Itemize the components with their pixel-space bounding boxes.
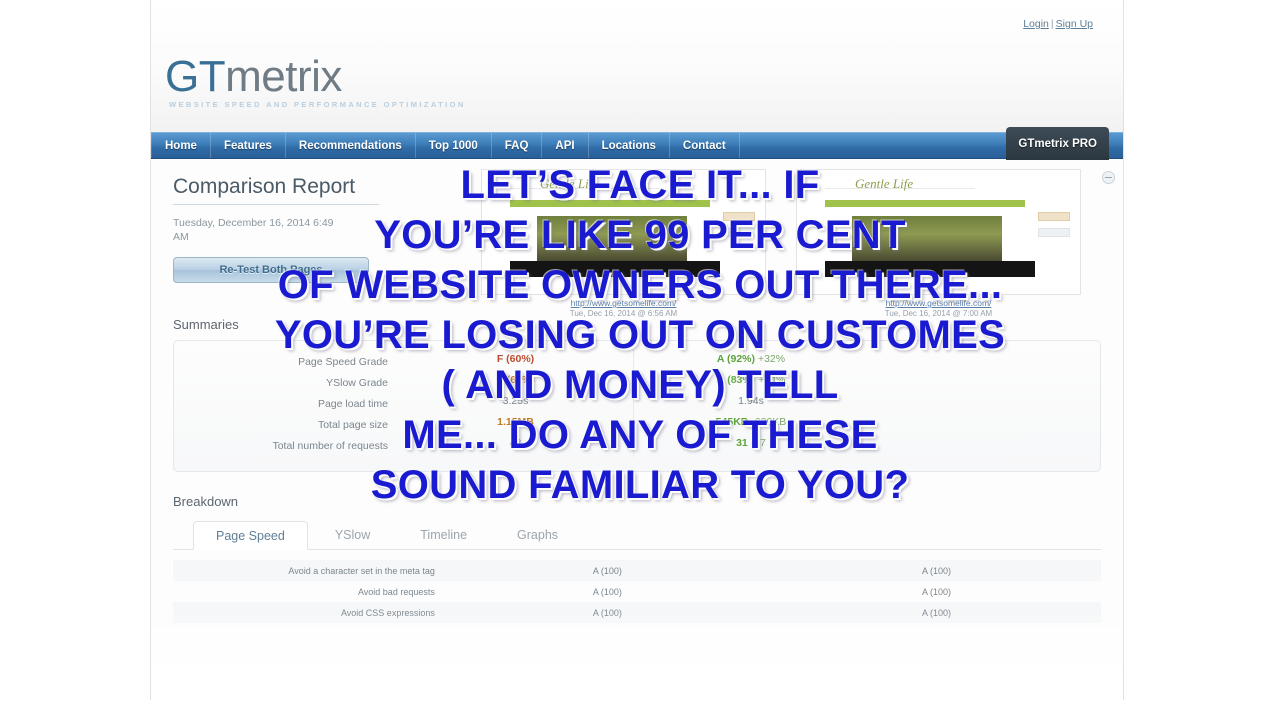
site-header: GTmetrix WEBSITE SPEED AND PERFORMANCE O… [151, 0, 1123, 132]
thumb-brand-text: Gentle Life [540, 176, 598, 192]
summary-value-left-page-speed-grade: F (60%) [497, 353, 534, 365]
breakdown-rule-name: Avoid bad requests [173, 581, 443, 602]
login-link[interactable]: Login [1023, 18, 1049, 30]
summary-value-right-yslow-grade: B (83%) [717, 374, 756, 386]
summary-value-left-total-requests: 48 [510, 437, 522, 449]
collapse-icon[interactable] [1102, 171, 1115, 184]
browser-page: GTmetrix WEBSITE SPEED AND PERFORMANCE O… [150, 0, 1124, 700]
thumb-decor-photo [852, 216, 1002, 261]
nav-item-home[interactable]: Home [151, 133, 211, 158]
logo-gt-text: GT [165, 52, 225, 101]
breakdown-left-grade: A (100) [443, 581, 772, 602]
breakdown-right-grade: A (100) [772, 560, 1101, 581]
tab-page-speed[interactable]: Page Speed [193, 521, 308, 550]
gtmetrix-logo[interactable]: GTmetrix [165, 52, 342, 102]
signup-link[interactable]: Sign Up [1056, 18, 1093, 30]
thumbnail-timestamp-left: Tue, Dec 16, 2014 @ 6:56 AM [481, 309, 766, 318]
breakdown-left-grade: A (100) [443, 560, 772, 581]
summary-value-right-page-load-time: 1.94s [738, 395, 764, 407]
thumbnail-left[interactable]: Gentle Life http://www.getsomelife.com/ … [481, 169, 766, 318]
breakdown-left-grade: A (100) [443, 602, 772, 623]
breakdown-table: Avoid a character set in the meta tag A … [173, 560, 1101, 623]
logo-metrix-text: metrix [225, 52, 342, 101]
summary-delta-total-page-size: -630KB [751, 416, 786, 428]
breakdown-heading: Breakdown [173, 494, 1101, 509]
summary-delta-yslow-grade: +14% [758, 374, 785, 386]
tab-timeline[interactable]: Timeline [397, 520, 490, 549]
tab-yslow[interactable]: YSlow [312, 520, 393, 549]
breakdown-rule-name: Avoid a character set in the meta tag [173, 560, 443, 581]
summary-label-yslow-grade: YSlow Grade [174, 373, 398, 394]
summary-label-total-page-size: Total page size [174, 415, 398, 436]
summary-value-right-page-speed-grade: A (92%) [717, 353, 755, 365]
nav-item-features[interactable]: Features [211, 133, 286, 158]
summary-delta-page-speed-grade: +32% [758, 353, 785, 365]
thumbnail-timestamp-right: Tue, Dec 16, 2014 @ 7:00 AM [796, 309, 1081, 318]
nav-item-faq[interactable]: FAQ [492, 133, 543, 158]
summary-label-page-speed-grade: Page Speed Grade [174, 352, 398, 373]
nav-item-api[interactable]: API [542, 133, 588, 158]
thumb-brand-text: Gentle Life [855, 176, 913, 192]
gtmetrix-pro-tab[interactable]: GTmetrix PRO [1006, 127, 1109, 160]
summary-value-left-total-page-size: 1.15MB [497, 416, 534, 428]
thumb-decor-sidebox-1 [1038, 212, 1070, 221]
logo-tagline: WEBSITE SPEED AND PERFORMANCE OPTIMIZATI… [169, 100, 466, 109]
screenshot-root: GTmetrix WEBSITE SPEED AND PERFORMANCE O… [0, 0, 1280, 720]
summary-value-right-total-page-size: 545KB [716, 416, 749, 428]
thumbnail-image-left[interactable]: Gentle Life [481, 169, 766, 295]
summaries-right-values: A (92%) +32% B (83%) +14% 1.94s 545KB -6… [633, 349, 868, 457]
bottom-fade [151, 610, 1123, 700]
page-title: Comparison Report [173, 175, 379, 205]
table-row[interactable]: Avoid CSS expressions A (100) A (100) [173, 602, 1101, 623]
nav-item-locations[interactable]: Locations [589, 133, 670, 158]
breakdown-tabs: Page Speed YSlow Timeline Graphs [173, 520, 1101, 550]
nav-item-contact[interactable]: Contact [670, 133, 740, 158]
summary-delta-total-requests: -17 [751, 437, 766, 449]
thumb-decor-blackbar [825, 261, 1035, 277]
report-date: Tuesday, December 16, 2014 6:49 AM [173, 216, 343, 244]
retest-both-pages-button[interactable]: Re-Test Both Pages [173, 257, 369, 283]
summary-label-total-requests: Total number of requests [174, 436, 398, 457]
thumbnail-right[interactable]: Gentle Life http://www.getsomelife.com/ … [796, 169, 1081, 318]
nav-item-recommendations[interactable]: Recommendations [286, 133, 416, 158]
auth-links: Login|Sign Up [1023, 18, 1093, 30]
table-row[interactable]: Avoid a character set in the meta tag A … [173, 560, 1101, 581]
thumb-decor-sidebox-2 [1038, 228, 1070, 237]
summaries-label-column: Page Speed Grade YSlow Grade Page load t… [174, 349, 398, 457]
auth-separator: | [1051, 18, 1054, 30]
summaries-left-values: F (60%) D (69%) 3.25s 1.15MB 48 [398, 349, 633, 457]
thumbnail-url-left[interactable]: http://www.getsomelife.com/ [481, 298, 766, 308]
thumb-decor-blackbar [510, 261, 720, 277]
tab-graphs[interactable]: Graphs [494, 520, 581, 549]
summaries-panel: Page Speed Grade YSlow Grade Page load t… [173, 340, 1101, 472]
thumbnail-image-right[interactable]: Gentle Life [796, 169, 1081, 295]
summary-value-left-yslow-grade: D (69%) [496, 374, 535, 386]
breakdown-right-grade: A (100) [772, 602, 1101, 623]
main-navigation: Home Features Recommendations Top 1000 F… [151, 132, 1123, 159]
thumb-decor-sidebox-1 [723, 212, 755, 221]
breakdown-rule-name: Avoid CSS expressions [173, 602, 443, 623]
breakdown-right-grade: A (100) [772, 581, 1101, 602]
thumb-decor-photo [537, 216, 687, 261]
summary-value-left-page-load-time: 3.25s [503, 395, 529, 407]
summary-value-right-total-requests: 31 [736, 437, 748, 449]
page-content: Comparison Report Tuesday, December 16, … [151, 159, 1123, 623]
thumbnail-url-right[interactable]: http://www.getsomelife.com/ [796, 298, 1081, 308]
nav-item-top-1000[interactable]: Top 1000 [416, 133, 492, 158]
thumb-decor-greenbar [510, 200, 710, 207]
summary-label-page-load-time: Page load time [174, 394, 398, 415]
summaries-heading: Summaries [173, 317, 1101, 332]
page-thumbnails: Gentle Life http://www.getsomelife.com/ … [481, 169, 1091, 318]
thumb-decor-sidebox-2 [723, 228, 755, 237]
thumb-decor-greenbar [825, 200, 1025, 207]
table-row[interactable]: Avoid bad requests A (100) A (100) [173, 581, 1101, 602]
